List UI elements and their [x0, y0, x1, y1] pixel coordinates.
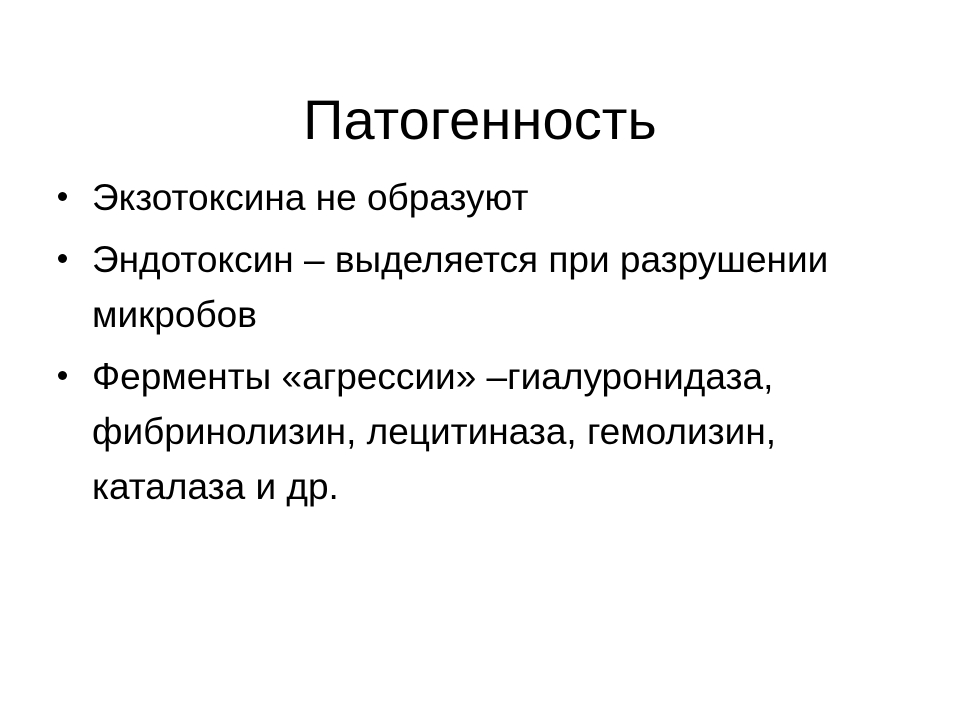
slide-body: Экзотоксина не образуют Эндотоксин – выд…: [44, 170, 924, 514]
bullet-dot-icon: [58, 254, 67, 263]
bullet-item-3-text: Ферменты «агрессии» –гиалуронидаза, фибр…: [92, 349, 924, 514]
bullet-item-2: Эндотоксин – выделяется при разрушении м…: [44, 232, 924, 342]
bullet-list: Экзотоксина не образуют Эндотоксин – выд…: [44, 170, 924, 514]
slide-title: Патогенность: [0, 90, 960, 150]
bullet-item-2-text: Эндотоксин – выделяется при разрушении м…: [92, 232, 924, 342]
bullet-item-1: Экзотоксина не образуют: [44, 170, 924, 225]
bullet-item-3: Ферменты «агрессии» –гиалуронидаза, фибр…: [44, 349, 924, 514]
bullet-dot-icon: [58, 371, 67, 380]
bullet-item-1-text: Экзотоксина не образуют: [92, 170, 924, 225]
bullet-dot-icon: [58, 192, 67, 201]
presentation-slide: Патогенность Экзотоксина не образуют Энд…: [0, 0, 960, 720]
